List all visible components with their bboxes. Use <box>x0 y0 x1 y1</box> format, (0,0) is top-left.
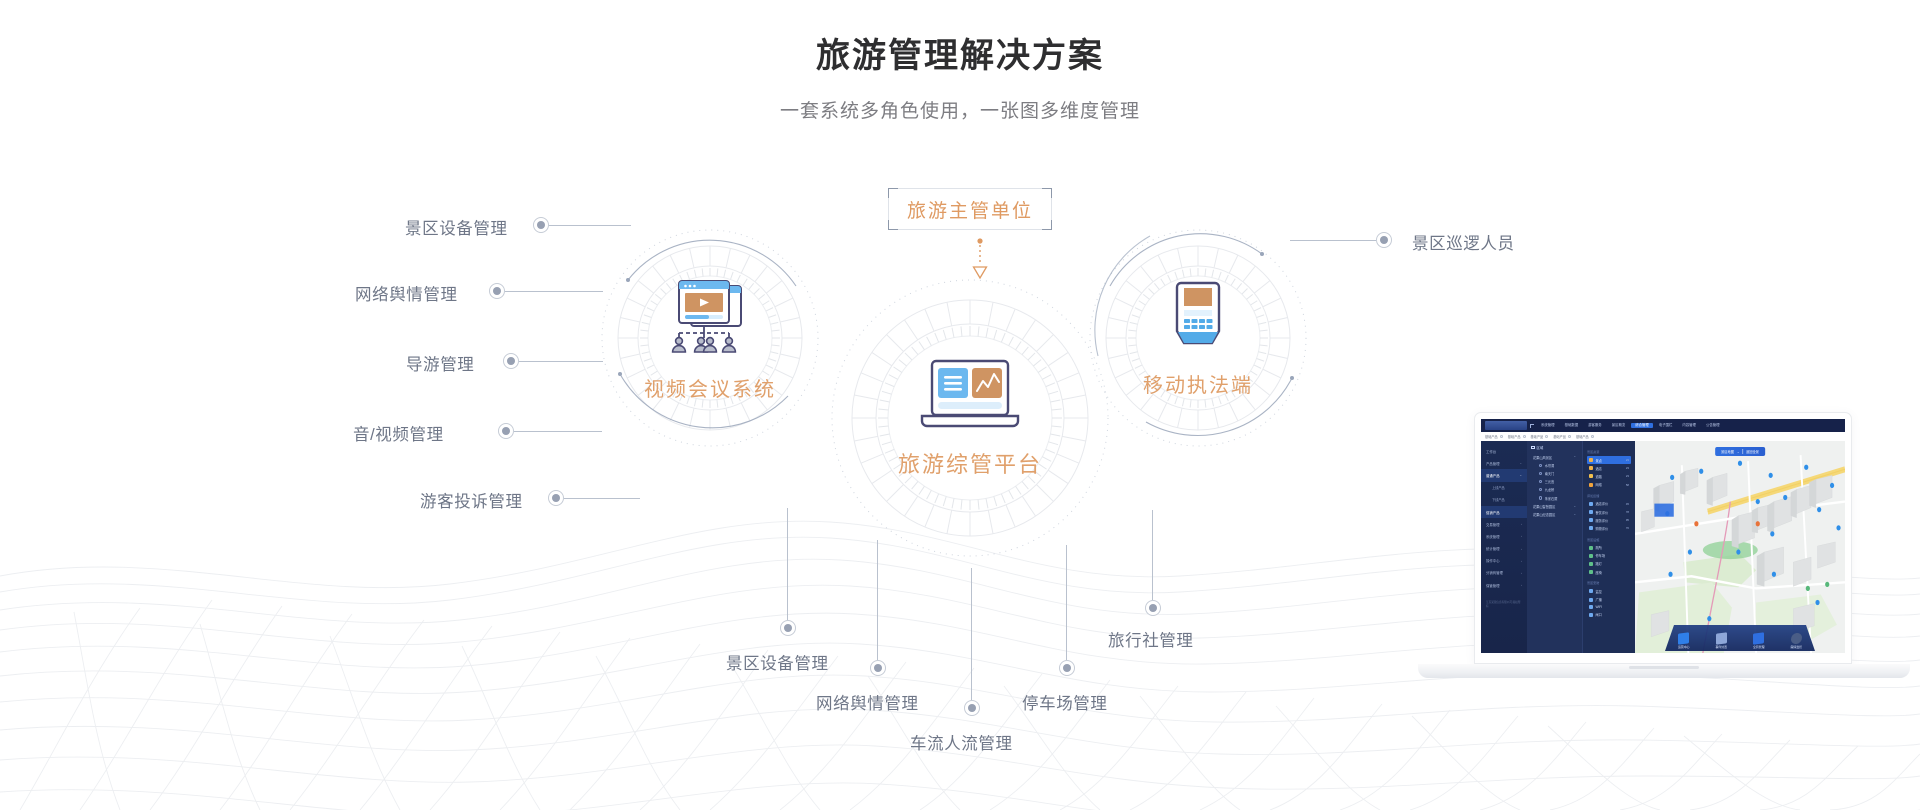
dashboard-tab-1[interactable]: 基础产品 <box>1508 434 1526 439</box>
layer-row-count: 45 <box>1626 502 1629 506</box>
bottom-label-0[interactable]: 景区设备管理 <box>726 650 829 674</box>
circle-title-video-conference: 视频会议系统 <box>644 373 776 402</box>
bottom-dot-3[interactable] <box>1059 660 1075 676</box>
left-label-1[interactable]: 网络舆情管理 <box>355 281 458 305</box>
region-group-2[interactable]: 花果山纪念园区⌄ <box>1531 510 1578 518</box>
right-label-0[interactable]: 景区巡逻人员 <box>1412 230 1515 254</box>
bottom-dot-1[interactable] <box>870 660 886 676</box>
dashboard-nav-item-7[interactable]: 公告管理 <box>1702 423 1724 428</box>
left-label-0-text: 景区设备管理 <box>405 220 508 238</box>
sidebar-item-8[interactable]: 统计管理› <box>1481 543 1527 555</box>
layer-row-3-1[interactable]: 广播 <box>1587 595 1631 603</box>
dashboard-topbar: 系统管理基础数据游客服务景区概览综合管理电子围栏内容管理公告管理 <box>1481 419 1845 432</box>
sidebar-item-label: 工作台 <box>1486 449 1496 454</box>
dashboard-tab-0[interactable]: 基础产品 <box>1485 434 1503 439</box>
dock-cube-icon <box>1791 632 1802 645</box>
layer-row-2-0[interactable]: 厕所 <box>1587 544 1631 552</box>
radio-icon[interactable] <box>1539 472 1542 475</box>
sidebar-item-0[interactable]: 工作台 <box>1481 445 1527 457</box>
page-title: 旅游管理解决方案 <box>0 34 1920 78</box>
dashboard-nav-item-5[interactable]: 电子围栏 <box>1655 423 1677 428</box>
left-label-2-text: 导游管理 <box>406 356 474 374</box>
sidebar-item-label: 产品管理 <box>1486 461 1500 466</box>
sidebar-item-7[interactable]: 系统管理› <box>1481 530 1527 542</box>
list-icon <box>1531 446 1535 450</box>
map-mode-overview: 返回全景 <box>1746 449 1759 454</box>
laptop-dashboard-icon <box>918 357 1022 435</box>
region-group-0[interactable]: 花果山风景区⌃ <box>1531 453 1578 461</box>
layer-row-3-0[interactable]: 监控 <box>1587 587 1631 595</box>
left-dot-3[interactable] <box>498 423 514 439</box>
solution-diagram-page: 旅游管理解决方案 一套系统多角色使用，一张图多维度管理 旅游主管单位 <box>0 0 1920 810</box>
circle-mobile-enforcement: 移动执法端 <box>1088 228 1308 448</box>
layer-type-icon <box>1589 466 1593 470</box>
layer-type-icon <box>1589 598 1593 602</box>
layer-group-title-3: 景区安防 <box>1587 580 1631 585</box>
dock-item-label: 事件处置 <box>1715 645 1727 649</box>
map-dock-item-3[interactable]: 舆情监控 <box>1790 633 1802 650</box>
layer-row-1-1[interactable]: 餐饮评价78 <box>1587 508 1631 516</box>
layer-row-count: 95 <box>1626 518 1629 522</box>
layer-row-label: 道路 <box>1596 474 1602 479</box>
dashboard-tab-label: 基础产品 <box>1576 434 1589 439</box>
layer-type-icon <box>1589 554 1593 558</box>
dashboard-tab-2[interactable]: 基础产品 <box>1531 434 1549 439</box>
region-panel-header: 区域 <box>1531 445 1578 450</box>
bottom-label-2-text: 车流人流管理 <box>910 735 1013 753</box>
layer-type-icon <box>1589 510 1593 514</box>
chevron-icon: ⌄ <box>1574 512 1576 516</box>
sidebar-item-label: 上线产品 <box>1492 485 1505 490</box>
layer-row-label: 广播 <box>1596 597 1602 602</box>
layer-row-label: 监控 <box>1596 589 1602 594</box>
region-item-label: 朱雀石屋 <box>1545 496 1558 501</box>
dashboard-tab-3[interactable]: 基础产品 <box>1553 434 1571 439</box>
sidebar-item-label: 促销产品 <box>1486 510 1500 515</box>
right-dot-0[interactable] <box>1376 232 1392 248</box>
layer-row-label: 酒店评价 <box>1596 501 1609 506</box>
chevron-icon: › <box>1521 534 1522 538</box>
close-icon[interactable] <box>1591 435 1594 438</box>
mobile-terminal-icon <box>1165 279 1231 357</box>
layer-group-title-1: 评论反馈 <box>1587 493 1631 498</box>
layer-group-title-2: 景区设施 <box>1587 537 1631 542</box>
sidebar-item-11[interactable]: 保管管理› <box>1481 579 1527 591</box>
chevron-icon: › <box>1521 571 1522 575</box>
radio-icon[interactable] <box>1539 480 1542 483</box>
layer-type-icon <box>1589 562 1593 566</box>
sidebar-item-4[interactable]: 下线产品 <box>1481 494 1527 506</box>
sidebar-item-label: 下线产品 <box>1492 497 1505 502</box>
region-item-0-0[interactable]: 水帘洞 <box>1531 461 1578 469</box>
dashboard-tab-label: 基础产品 <box>1531 434 1544 439</box>
layer-group-title-0: 景区资源 <box>1587 449 1631 454</box>
layer-row-label: 厕所 <box>1596 545 1602 550</box>
left-dot-0[interactable] <box>533 217 549 233</box>
map-dock-item-2[interactable]: 全局管理 <box>1753 633 1765 650</box>
left-dot-4[interactable] <box>548 490 564 506</box>
layer-type-icon <box>1589 613 1593 617</box>
dashboard-nav-item-1[interactable]: 基础数据 <box>1561 423 1583 428</box>
bottom-label-3[interactable]: 停车场管理 <box>1022 690 1108 714</box>
sidebar-item-label: 保管管理 <box>1486 583 1500 588</box>
layer-type-icon <box>1589 526 1593 530</box>
dock-item-label: 运营中心 <box>1678 645 1690 649</box>
left-line-4 <box>564 498 640 499</box>
layer-row-3-2[interactable]: WIFI <box>1587 604 1631 611</box>
chevron-icon: ⌄ <box>1519 473 1522 477</box>
region-item-0-4[interactable]: 朱雀石屋 <box>1531 494 1578 502</box>
region-group-name: 花果山风景区 <box>1533 455 1552 460</box>
left-label-3-text: 音/视频管理 <box>353 426 444 444</box>
dock-item-label: 舆情监控 <box>1790 645 1802 649</box>
layer-row-2-3[interactable]: 座椅 <box>1587 568 1631 576</box>
layer-type-icon <box>1589 483 1593 487</box>
bottom-dot-0[interactable] <box>780 620 796 636</box>
circle-tourism-platform: 旅游综管平台 <box>830 278 1110 558</box>
region-panel-title: 区域 <box>1537 445 1544 450</box>
right-line-0 <box>1290 240 1376 241</box>
bottom-line-3 <box>1066 545 1067 660</box>
layer-row-label: WIFI <box>1596 605 1603 609</box>
layer-type-icon <box>1589 474 1593 478</box>
map-canvas <box>1635 441 1845 653</box>
bottom-line-1 <box>877 540 878 660</box>
sidebar-item-1[interactable]: 产品管理⌄ <box>1481 457 1527 469</box>
chevron-icon: › <box>1521 583 1522 587</box>
layer-row-count: 23 <box>1626 458 1629 462</box>
dashboard-nav-item-0[interactable]: 系统管理 <box>1537 423 1559 428</box>
left-label-2[interactable]: 导游管理 <box>406 351 474 375</box>
sidebar-item-label: 系统管理 <box>1486 534 1500 539</box>
layer-row-count: 23 <box>1626 466 1629 470</box>
dashboard-map-view[interactable]: 景区地图 ⌄ 返回全景 运营中心事件处置全局管理舆情监控 <box>1635 441 1845 653</box>
bottom-label-4-text: 旅行社管理 <box>1108 632 1194 650</box>
close-icon[interactable] <box>1500 435 1503 438</box>
layer-type-icon <box>1589 570 1593 574</box>
left-label-4[interactable]: 游客投诉管理 <box>420 488 523 512</box>
corner-accent-bottom-left <box>888 220 898 230</box>
layer-row-label: 服务评价 <box>1596 518 1609 523</box>
map-mode-scenic: 景区地图 <box>1721 449 1734 454</box>
bottom-dot-4[interactable] <box>1145 600 1161 616</box>
dashboard-nav-item-2[interactable]: 游客服务 <box>1584 423 1606 428</box>
page-subtitle: 一套系统多角色使用，一张图多维度管理 <box>0 96 1920 123</box>
supervisor-unit-box[interactable]: 旅游主管单位 <box>888 188 1052 230</box>
close-icon[interactable] <box>1523 435 1526 438</box>
close-icon[interactable] <box>1568 435 1571 438</box>
region-item-label: 水帘洞 <box>1545 463 1555 468</box>
downward-arrow-icon <box>960 238 1000 282</box>
layer-row-label: 酒店 <box>1596 466 1602 471</box>
layer-row-2-1[interactable]: 停车场 <box>1587 552 1631 560</box>
close-icon[interactable] <box>1545 435 1548 438</box>
region-item-0-3[interactable]: 九龙桥 <box>1531 486 1578 494</box>
layer-row-0-0[interactable]: 景点23 <box>1587 456 1631 464</box>
sidebar-item-label: 交易管理 <box>1486 522 1500 527</box>
radio-icon[interactable] <box>1539 464 1542 467</box>
dashboard-app: 系统管理基础数据游客服务景区概览综合管理电子围栏内容管理公告管理 基础产品基础产… <box>1481 419 1845 653</box>
dashboard-tabstrip: 基础产品基础产品基础产品基础产品基础产品 <box>1481 432 1845 441</box>
region-item-0-2[interactable]: 三元宫 <box>1531 478 1578 486</box>
corner-accent-top-right <box>1042 188 1052 198</box>
layer-type-icon <box>1589 605 1593 609</box>
dashboard-tab-label: 基础产品 <box>1508 434 1521 439</box>
chevron-icon: › <box>1521 547 1522 551</box>
layer-row-label: 闸口 <box>1596 612 1602 617</box>
map-dock-item-0[interactable]: 运营中心 <box>1678 633 1690 650</box>
layer-row-label: 餐饮评价 <box>1596 510 1609 515</box>
dashboard-nav-item-6[interactable]: 内容管理 <box>1678 423 1700 428</box>
sidebar-item-label: 普通产品 <box>1486 473 1500 478</box>
sidebar-item-5[interactable]: 促销产品 <box>1481 506 1527 518</box>
region-item-label: 九龙桥 <box>1545 487 1555 492</box>
layer-row-label: 网络 <box>1596 482 1602 487</box>
layer-row-1-3[interactable]: 购物评价76 <box>1587 524 1631 532</box>
layer-row-2-2[interactable]: 路灯 <box>1587 560 1631 568</box>
bottom-label-4[interactable]: 旅行社管理 <box>1108 627 1194 651</box>
dashboard-tab-label: 基础产品 <box>1485 434 1498 439</box>
dashboard-tab-4[interactable]: 基础产品 <box>1576 434 1594 439</box>
corner-accent-bottom-right <box>1042 220 1052 230</box>
bottom-line-2 <box>971 568 972 700</box>
layer-type-icon <box>1589 546 1593 550</box>
layer-row-label: 路灯 <box>1596 561 1602 566</box>
laptop-mockup: 系统管理基础数据游客服务景区概览综合管理电子围栏内容管理公告管理 基础产品基础产… <box>1418 412 1910 694</box>
chevron-down-icon: ⌄ <box>1737 450 1740 454</box>
layer-row-count: 76 <box>1626 526 1629 530</box>
dashboard-sidebar: 工作台产品管理⌄普通产品⌄上线产品下线产品促销产品交易管理›系统管理›统计管理›… <box>1481 441 1527 653</box>
left-line-1 <box>505 291 603 292</box>
dock-item-label: 全局管理 <box>1753 645 1765 649</box>
left-label-0[interactable]: 景区设备管理 <box>405 215 508 239</box>
layer-row-3-3[interactable]: 闸口 <box>1587 611 1631 619</box>
bottom-label-1-text: 网络舆情管理 <box>816 695 919 713</box>
bottom-line-4 <box>1152 510 1153 600</box>
layer-row-count: 58 <box>1626 483 1629 487</box>
page-header: 旅游管理解决方案 一套系统多角色使用，一张图多维度管理 <box>0 34 1920 123</box>
circle-title-mobile-enforcement: 移动执法端 <box>1143 369 1253 398</box>
map-dock-bar: 运营中心事件处置全局管理舆情监控 <box>1665 625 1815 651</box>
right-label-0-text: 景区巡逻人员 <box>1412 235 1515 253</box>
dock-cube-icon <box>1678 632 1689 645</box>
dashboard-nav-item-4[interactable]: 综合管理 <box>1631 423 1653 428</box>
bottom-label-3-text: 停车场管理 <box>1022 695 1108 713</box>
region-item-label: 南天门 <box>1545 471 1555 476</box>
sidebar-item-9[interactable]: 操作中心› <box>1481 555 1527 567</box>
sidebar-item-label: 操作中心 <box>1486 558 1500 563</box>
left-dot-1[interactable] <box>489 283 505 299</box>
sidebar-item-2[interactable]: 普通产品⌄ <box>1481 469 1527 481</box>
menu-icon[interactable] <box>1530 424 1534 428</box>
left-label-3[interactable]: 音/视频管理 <box>353 421 444 445</box>
region-group-name: 花果山智慧园区 <box>1533 504 1555 509</box>
laptop-base <box>1418 664 1910 678</box>
laptop-screen: 系统管理基础数据游客服务景区概览综合管理电子围栏内容管理公告管理 基础产品基础产… <box>1474 412 1852 664</box>
layer-row-1-0[interactable]: 酒店评价45 <box>1587 500 1631 508</box>
map-mode-toggle[interactable]: 景区地图 ⌄ 返回全景 <box>1715 447 1765 456</box>
layer-row-1-2[interactable]: 服务评价95 <box>1587 516 1631 524</box>
layer-row-0-3[interactable]: 网络58 <box>1587 481 1631 489</box>
dashboard-region-panel: 区域 花果山风景区⌃水帘洞南天门三元宫九龙桥朱雀石屋花果山智慧园区⌄花果山纪念园… <box>1527 441 1583 653</box>
chevron-icon: ⌄ <box>1574 504 1576 508</box>
region-group-1[interactable]: 花果山智慧园区⌄ <box>1531 502 1578 510</box>
sidebar-item-10[interactable]: 分销商管理› <box>1481 567 1527 579</box>
layer-row-label: 购物评价 <box>1596 526 1609 531</box>
bottom-label-0-text: 景区设备管理 <box>726 655 829 673</box>
chevron-icon: › <box>1521 522 1522 526</box>
sidebar-item-6[interactable]: 交易管理› <box>1481 518 1527 530</box>
bottom-label-1[interactable]: 网络舆情管理 <box>816 690 919 714</box>
layer-row-label: 停车场 <box>1596 553 1606 558</box>
chevron-icon: › <box>1521 559 1522 563</box>
layer-row-0-2[interactable]: 道路23 <box>1587 472 1631 480</box>
dashboard-tab-label: 基础产品 <box>1553 434 1566 439</box>
left-label-1-text: 网络舆情管理 <box>355 286 458 304</box>
dock-cube-icon <box>1716 632 1727 645</box>
dashboard-nav-item-3[interactable]: 景区概览 <box>1608 423 1630 428</box>
left-line-3 <box>514 431 602 432</box>
left-line-0 <box>549 225 631 226</box>
chevron-icon: ⌃ <box>1574 455 1576 459</box>
region-item-0-1[interactable]: 南天门 <box>1531 469 1578 477</box>
corner-accent-top-left <box>888 188 898 198</box>
radio-icon[interactable] <box>1539 496 1542 499</box>
sidebar-item-label: 统计管理 <box>1486 546 1500 551</box>
layer-row-label: 景点 <box>1596 458 1602 463</box>
sidebar-footer: 江苏某某信息有限公司 版权所有 <box>1481 591 1527 609</box>
map-dock-item-1[interactable]: 事件处置 <box>1715 633 1727 650</box>
circle-video-conference: 视频会议系统 <box>600 228 820 448</box>
left-dot-2[interactable] <box>503 353 519 369</box>
chevron-icon: ⌄ <box>1519 461 1522 465</box>
layer-row-0-1[interactable]: 酒店23 <box>1587 464 1631 472</box>
bottom-label-2[interactable]: 车流人流管理 <box>910 730 1013 754</box>
dashboard-logo <box>1485 421 1527 430</box>
bottom-line-0 <box>787 508 788 620</box>
layer-type-icon <box>1589 589 1593 593</box>
dashboard-body: 工作台产品管理⌄普通产品⌄上线产品下线产品促销产品交易管理›系统管理›统计管理›… <box>1481 441 1845 653</box>
dashboard-layer-panel: 景区资源景点23酒店23道路23网络58评论反馈酒店评价45餐饮评价78服务评价… <box>1583 441 1635 653</box>
video-conference-icon <box>665 275 755 361</box>
region-item-label: 三元宫 <box>1545 479 1555 484</box>
layer-row-count: 23 <box>1626 474 1629 478</box>
bottom-dot-2[interactable] <box>964 700 980 716</box>
layer-type-icon <box>1589 458 1593 462</box>
sidebar-item-3[interactable]: 上线产品 <box>1481 482 1527 494</box>
layer-row-count: 78 <box>1626 510 1629 514</box>
layer-row-label: 座椅 <box>1596 570 1602 575</box>
left-label-4-text: 游客投诉管理 <box>420 493 523 511</box>
sidebar-item-label: 分销商管理 <box>1486 570 1503 575</box>
left-line-2 <box>519 361 603 362</box>
layer-type-icon <box>1589 502 1593 506</box>
dock-cube-icon <box>1753 632 1764 645</box>
supervisor-unit-label: 旅游主管单位 <box>907 196 1033 223</box>
circle-title-tourism-platform: 旅游综管平台 <box>898 447 1042 479</box>
layer-type-icon <box>1589 518 1593 522</box>
radio-icon[interactable] <box>1539 488 1542 491</box>
region-group-name: 花果山纪念园区 <box>1533 512 1555 517</box>
